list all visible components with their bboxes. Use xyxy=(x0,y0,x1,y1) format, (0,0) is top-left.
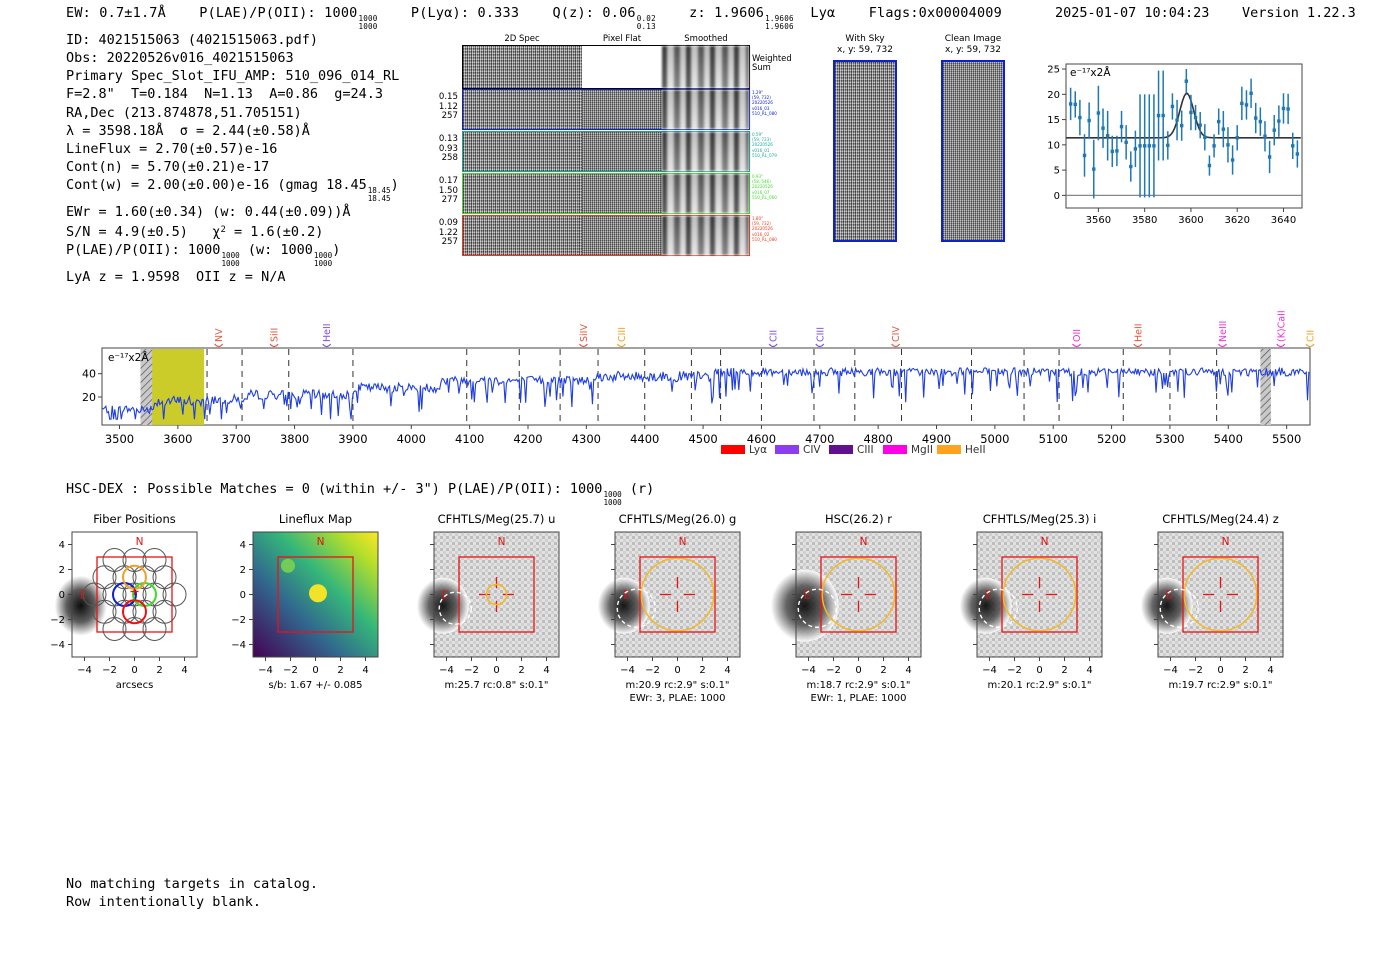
row-0-values: 0.151.12257 xyxy=(424,93,458,122)
svg-text:−4: −4 xyxy=(231,640,246,651)
svg-text:N: N xyxy=(498,536,506,548)
svg-text:2: 2 xyxy=(518,665,524,676)
header-ew: EW: 0.7±1.7Å xyxy=(66,5,166,21)
svg-text:OII: OII xyxy=(1072,329,1083,342)
svg-text:−2: −2 xyxy=(1188,665,1203,676)
svg-text:−4: −4 xyxy=(77,665,92,676)
svg-text:HeII: HeII xyxy=(322,323,333,342)
svg-text:CIV: CIV xyxy=(891,326,902,342)
weighted-sum-label: WeightedSum xyxy=(752,54,792,73)
svg-text:2: 2 xyxy=(240,565,246,576)
svg-text:3580: 3580 xyxy=(1132,215,1157,226)
svg-text:5400: 5400 xyxy=(1214,432,1243,446)
version: Version 1.22.3 xyxy=(1242,5,1356,21)
svg-text:N: N xyxy=(317,536,325,548)
info-redshift: LyA z = 1.9598 OII z = N/A xyxy=(66,268,399,286)
svg-text:CIII: CIII xyxy=(857,444,874,456)
fiber-row-1-pixelflat xyxy=(582,132,661,171)
svg-text:CIII: CIII xyxy=(815,327,826,342)
svg-text:Fiber Positions: Fiber Positions xyxy=(93,512,176,526)
fiber-row-2-meta: 0.93"(58, 546)20220526v016_07510_RL_060 xyxy=(752,174,806,200)
row-3-values: 0.091.22257 xyxy=(424,219,458,248)
svg-text:4: 4 xyxy=(543,665,549,676)
svg-text:0: 0 xyxy=(674,665,680,676)
svg-text:4400: 4400 xyxy=(630,432,659,446)
svg-text:4000: 4000 xyxy=(397,432,426,446)
fiber-row-2[interactable] xyxy=(462,173,750,214)
info-radec: RA,Dec (213.874878,51.705151) xyxy=(66,104,399,122)
svg-text:25: 25 xyxy=(1047,65,1060,76)
info-seeing: F=2.8" T=0.184 N=1.13 A=0.86 g=24.3 xyxy=(66,85,399,103)
header-flags: Flags:0x00004009 xyxy=(869,5,1002,21)
svg-text:0: 0 xyxy=(1217,665,1223,676)
svg-text:2: 2 xyxy=(1242,665,1248,676)
svg-text:CFHTLS/Meg(26.0) g: CFHTLS/Meg(26.0) g xyxy=(619,512,737,526)
svg-text:−2: −2 xyxy=(464,665,479,676)
svg-text:HSC(26.2) r: HSC(26.2) r xyxy=(825,512,892,526)
col-title-2dspec: 2D Spec xyxy=(462,34,582,44)
fiber-row-3-2dspec xyxy=(463,216,582,255)
source-info-block: ID: 4021515063 (4021515063.pdf) Obs: 202… xyxy=(66,31,399,286)
svg-text:s/b: 1.67 +/- 0.085: s/b: 1.67 +/- 0.085 xyxy=(268,680,362,691)
svg-text:m:19.7 rc:2.9" s:0.1": m:19.7 rc:2.9" s:0.1" xyxy=(1168,680,1272,691)
svg-text:−4: −4 xyxy=(620,665,635,676)
svg-text:0: 0 xyxy=(59,590,65,601)
svg-text:CII: CII xyxy=(1306,330,1317,342)
svg-text:HeII: HeII xyxy=(965,444,986,456)
svg-text:e⁻¹⁷x2Å: e⁻¹⁷x2Å xyxy=(108,351,149,364)
svg-text:EWr: 1, PLAE: 1000: EWr: 1, PLAE: 1000 xyxy=(811,693,907,704)
svg-text:3560: 3560 xyxy=(1086,215,1111,226)
svg-text:3600: 3600 xyxy=(1178,215,1203,226)
fiber-row-0[interactable] xyxy=(462,89,750,130)
col-title-smoothed: Smoothed xyxy=(662,34,750,44)
svg-text:m:18.7 rc:2.9" s:0.1": m:18.7 rc:2.9" s:0.1" xyxy=(806,680,910,691)
svg-text:2: 2 xyxy=(699,665,705,676)
svg-text:0: 0 xyxy=(493,665,499,676)
svg-text:N: N xyxy=(136,536,144,548)
line-fit-plot[interactable]: 051015202535603580360036203640e⁻¹⁷x2Å xyxy=(1032,58,1304,244)
fiber-row-3-smoothed xyxy=(662,216,749,255)
info-id: ID: 4021515063 (4021515063.pdf) xyxy=(66,31,399,49)
with-sky-title: With Skyx, y: 59, 732 xyxy=(820,34,910,56)
fiber-row-3-pixelflat xyxy=(582,216,661,255)
svg-text:m:20.1 rc:2.9" s:0.1": m:20.1 rc:2.9" s:0.1" xyxy=(987,680,1091,691)
clean-image-title: Clean Imagex, y: 59, 732 xyxy=(925,34,1021,56)
svg-text:−4: −4 xyxy=(258,665,273,676)
header-z: z: 1.9606 xyxy=(689,5,764,21)
svg-text:3640: 3640 xyxy=(1271,215,1296,226)
info-lineflux: LineFlux = 2.70(±0.57)e-16 xyxy=(66,140,399,158)
fiber-row-0-pixelflat xyxy=(582,90,661,129)
header-plae: P(LAE)/P(OII): 1000 xyxy=(199,5,357,21)
svg-text:0: 0 xyxy=(855,665,861,676)
fiber-row-2-2dspec xyxy=(463,174,582,213)
svg-text:4: 4 xyxy=(362,665,368,676)
with-sky-image[interactable] xyxy=(833,60,897,242)
svg-text:2: 2 xyxy=(337,665,343,676)
svg-text:2: 2 xyxy=(1061,665,1067,676)
svg-text:−2: −2 xyxy=(50,615,65,626)
svg-text:−2: −2 xyxy=(102,665,117,676)
svg-text:Lineflux Map: Lineflux Map xyxy=(279,512,352,526)
svg-text:−2: −2 xyxy=(645,665,660,676)
header-timestamp-version: 2025-01-07 10:04:23 Version 1.22.3 xyxy=(1055,5,1356,21)
svg-text:N: N xyxy=(1041,536,1049,548)
weighted-sum-2dspec xyxy=(463,46,582,88)
footer-note: No matching targets in catalog. Row inte… xyxy=(66,875,318,911)
svg-text:−4: −4 xyxy=(439,665,454,676)
svg-text:4200: 4200 xyxy=(513,432,542,446)
header-summary-line: EW: 0.7±1.7Å P(LAE)/P(OII): 100010001000… xyxy=(66,5,1002,30)
svg-text:3500: 3500 xyxy=(105,432,134,446)
bottom-panel-row[interactable]: Fiber Positions−4−4−2−2002244NEarcsecsLi… xyxy=(56,506,1346,721)
svg-text:CIII: CIII xyxy=(617,327,628,342)
svg-text:4: 4 xyxy=(724,665,730,676)
svg-text:−2: −2 xyxy=(1007,665,1022,676)
svg-text:3700: 3700 xyxy=(222,432,251,446)
svg-text:0: 0 xyxy=(312,665,318,676)
svg-text:20: 20 xyxy=(1047,90,1060,101)
svg-text:4500: 4500 xyxy=(688,432,717,446)
svg-text:5500: 5500 xyxy=(1272,432,1301,446)
fiber-row-0-meta: 1.29"(59, 732)20220526v016_03510_RL_080 xyxy=(752,90,806,116)
header-qz: Q(z): 0.06 xyxy=(552,5,635,21)
svg-text:2: 2 xyxy=(59,565,65,576)
svg-text:HeII: HeII xyxy=(1133,323,1144,342)
svg-text:N: N xyxy=(679,536,687,548)
footer-line-1: No matching targets in catalog. xyxy=(66,875,318,893)
fiber-row-1-smoothed xyxy=(662,132,749,171)
svg-text:NeIII: NeIII xyxy=(1218,321,1229,342)
svg-text:5100: 5100 xyxy=(1039,432,1068,446)
header-plya: P(Lyα): 0.333 xyxy=(411,5,519,21)
info-lambda: λ = 3598.18Å σ = 2.44(±0.58)Å xyxy=(66,122,399,140)
svg-text:4: 4 xyxy=(1267,665,1273,676)
header-z-suffix: Lyα xyxy=(810,5,835,21)
fiber-row-0-2dspec xyxy=(463,90,582,129)
fiber-row-2-smoothed xyxy=(662,174,749,213)
svg-text:0: 0 xyxy=(131,665,137,676)
svg-text:Lyα: Lyα xyxy=(749,444,767,456)
svg-text:CFHTLS/Meg(25.7) u: CFHTLS/Meg(25.7) u xyxy=(438,512,556,526)
svg-text:4: 4 xyxy=(1086,665,1092,676)
svg-text:m:20.9 rc:2.9" s:0.1": m:20.9 rc:2.9" s:0.1" xyxy=(625,680,729,691)
svg-text:N: N xyxy=(860,536,868,548)
svg-text:5: 5 xyxy=(1054,166,1060,177)
svg-text:−2: −2 xyxy=(231,615,246,626)
weighted-sum-pixelflat xyxy=(582,46,661,88)
svg-text:10: 10 xyxy=(1047,140,1060,151)
svg-text:4: 4 xyxy=(59,540,65,551)
row-2-values: 0.171.50277 xyxy=(424,177,458,206)
svg-text:SiIV: SiIV xyxy=(579,324,590,342)
full-spectrum-plot[interactable]: 2040350036003700380039004000410042004300… xyxy=(60,300,1340,475)
fiber-row-0-smoothed xyxy=(662,90,749,129)
svg-text:4: 4 xyxy=(181,665,187,676)
info-ewr: EWr = 1.60(±0.34) (w: 0.44(±0.09))Å xyxy=(66,203,399,221)
svg-text:−2: −2 xyxy=(826,665,841,676)
fiber-row-1-meta: 0.59"(59, 723)20220526v016_01510_RL_079 xyxy=(752,132,806,158)
weighted-sum-smoothed xyxy=(662,46,749,88)
svg-text:CFHTLS/Meg(24.4) z: CFHTLS/Meg(24.4) z xyxy=(1162,512,1278,526)
svg-text:2: 2 xyxy=(156,665,162,676)
svg-text:0: 0 xyxy=(240,590,246,601)
svg-text:4300: 4300 xyxy=(572,432,601,446)
svg-text:20: 20 xyxy=(82,391,96,404)
row-1-values: 0.130.93258 xyxy=(424,135,458,164)
svg-text:−4: −4 xyxy=(982,665,997,676)
svg-text:SiII: SiII xyxy=(270,328,281,342)
fiber-row-3[interactable] xyxy=(462,215,750,256)
info-primary-spec: Primary Spec_Slot_IFU_AMP: 510_096_014_R… xyxy=(66,67,399,85)
svg-text:N: N xyxy=(1222,536,1230,548)
footer-line-2: Row intentionally blank. xyxy=(66,893,318,911)
svg-text:0: 0 xyxy=(1054,191,1060,202)
svg-text:3620: 3620 xyxy=(1224,215,1249,226)
svg-text:−4: −4 xyxy=(50,640,65,651)
svg-text:−4: −4 xyxy=(1163,665,1178,676)
svg-text:4100: 4100 xyxy=(455,432,484,446)
svg-text:2: 2 xyxy=(880,665,886,676)
fiber-row-2-pixelflat xyxy=(582,174,661,213)
info-sn-chi2: S/N = 4.9(±0.5) χ2 = 1.6(±0.2) xyxy=(66,221,399,241)
fiber-row-3-meta: 1.80"(59, 732)20220526v016_02510_RL_080 xyxy=(752,216,806,242)
svg-text:3600: 3600 xyxy=(163,432,192,446)
svg-text:5200: 5200 xyxy=(1097,432,1126,446)
col-title-pixelflat: Pixel Flat xyxy=(582,34,662,44)
svg-text:3900: 3900 xyxy=(338,432,367,446)
clean-image[interactable] xyxy=(941,60,1005,242)
svg-text:CII: CII xyxy=(769,330,780,342)
weighted-sum-row xyxy=(462,45,750,89)
svg-text:CIV: CIV xyxy=(803,444,821,456)
fiber-row-1[interactable] xyxy=(462,131,750,172)
2d-spectra-group: 2D Spec Pixel Flat Smoothed WeightedSum … xyxy=(424,34,764,249)
info-obs: Obs: 20220526v016_4021515063 xyxy=(66,49,399,67)
info-plae: P(LAE)/P(OII): 100010001000 (w: 10001000… xyxy=(66,241,399,267)
svg-text:5300: 5300 xyxy=(1155,432,1184,446)
info-cont-w: Cont(w) = 2.00(±0.00)e-16 (gmag 18.4518.… xyxy=(66,176,399,202)
hsc-dex-line: HSC-DEX : Possible Matches = 0 (within +… xyxy=(66,481,654,506)
svg-text:−2: −2 xyxy=(283,665,298,676)
svg-text:EWr: 3, PLAE: 1000: EWr: 3, PLAE: 1000 xyxy=(630,693,726,704)
svg-text:CFHTLS/Meg(25.3) i: CFHTLS/Meg(25.3) i xyxy=(983,512,1097,526)
info-cont-n: Cont(n) = 5.70(±0.21)e-17 xyxy=(66,158,399,176)
svg-text:4: 4 xyxy=(240,540,246,551)
svg-text:(K)CaII: (K)CaII xyxy=(1276,310,1287,342)
svg-text:MgII: MgII xyxy=(911,444,933,456)
svg-text:3800: 3800 xyxy=(280,432,309,446)
timestamp: 2025-01-07 10:04:23 xyxy=(1055,5,1209,21)
svg-text:15: 15 xyxy=(1047,115,1060,126)
svg-text:e⁻¹⁷x2Å: e⁻¹⁷x2Å xyxy=(1070,66,1111,79)
fiber-row-1-2dspec xyxy=(463,132,582,171)
svg-text:0: 0 xyxy=(1036,665,1042,676)
svg-text:NV: NV xyxy=(214,328,225,342)
svg-text:arcsecs: arcsecs xyxy=(116,680,154,691)
svg-text:4: 4 xyxy=(905,665,911,676)
svg-text:−4: −4 xyxy=(801,665,816,676)
svg-text:40: 40 xyxy=(82,368,96,381)
svg-text:m:25.7 rc:0.8" s:0.1": m:25.7 rc:0.8" s:0.1" xyxy=(444,680,548,691)
